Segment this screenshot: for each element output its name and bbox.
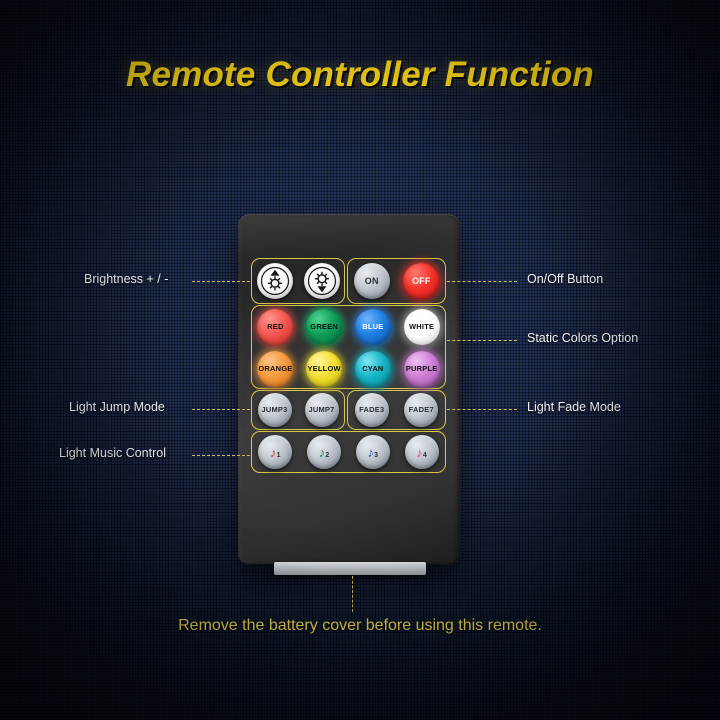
battery-caption: Remove the battery cover before using th… (0, 617, 720, 635)
leader-line-fade (447, 409, 517, 410)
music-note-1-icon: ♪1 (270, 446, 281, 459)
color-row-1: RED GREEN BLUE WHITE (251, 306, 446, 347)
music-note-2-number: 2 (325, 452, 329, 459)
music-note-4-icon: ♪4 (416, 446, 427, 459)
music-note-3-icon: ♪3 (367, 446, 378, 459)
music-note-1-glyph: ♪ (270, 445, 277, 460)
on-button[interactable]: ON (354, 263, 390, 299)
annotation-brightness: Brightness + / - (84, 272, 168, 286)
annotation-fade: Light Fade Mode (527, 400, 621, 414)
color-yellow-button[interactable]: YELLOW (306, 351, 342, 387)
sun-down-icon (307, 266, 337, 296)
off-button[interactable]: OFF (403, 263, 439, 299)
leader-line-jump (192, 409, 250, 410)
music-note-2-icon: ♪2 (319, 446, 330, 459)
fade7-button[interactable]: FADE7 (404, 393, 438, 427)
jump7-button[interactable]: JUMP7 (305, 393, 339, 427)
brightness-down-button[interactable] (304, 263, 340, 299)
on-button-label: ON (365, 277, 379, 286)
music-row: ♪1 ♪2 ♪3 ♪4 (251, 432, 446, 472)
color-white-button[interactable]: WHITE (404, 309, 440, 345)
jump7-label: JUMP7 (308, 406, 334, 414)
color-blue-label: BLUE (362, 323, 383, 331)
color-purple-label: PURPLE (406, 365, 438, 373)
jump3-button[interactable]: JUMP3 (258, 393, 292, 427)
sun-up-icon (260, 266, 290, 296)
color-white-label: WHITE (409, 323, 434, 331)
color-blue-button[interactable]: BLUE (355, 309, 391, 345)
music-3-button[interactable]: ♪3 (356, 435, 390, 469)
music-note-1-number: 1 (277, 452, 281, 459)
music-note-4-glyph: ♪ (416, 445, 423, 460)
poster-canvas: Remote Controller Function (0, 0, 720, 720)
brightness-up-button[interactable] (257, 263, 293, 299)
annotation-static-colors: Static Colors Option (527, 331, 638, 345)
color-purple-button[interactable]: PURPLE (404, 351, 440, 387)
color-red-label: RED (267, 323, 283, 331)
leader-line-static-colors (447, 340, 517, 341)
battery-cover (274, 562, 426, 575)
color-orange-button[interactable]: ORANGE (257, 351, 293, 387)
music-2-button[interactable]: ♪2 (307, 435, 341, 469)
fade3-button[interactable]: FADE3 (355, 393, 389, 427)
music-note-4-number: 4 (423, 452, 427, 459)
fade3-label: FADE3 (359, 406, 384, 414)
color-yellow-label: YELLOW (307, 365, 340, 373)
color-cyan-label: CYAN (362, 365, 383, 373)
music-1-button[interactable]: ♪1 (258, 435, 292, 469)
color-orange-label: ORANGE (258, 365, 292, 373)
leader-line-music (192, 455, 250, 456)
jump3-label: JUMP3 (261, 406, 287, 414)
leader-line-brightness (192, 281, 250, 282)
leader-line-onoff (447, 281, 517, 282)
color-red-button[interactable]: RED (257, 309, 293, 345)
color-cyan-button[interactable]: CYAN (355, 351, 391, 387)
fade7-label: FADE7 (409, 406, 434, 414)
music-note-3-number: 3 (374, 452, 378, 459)
jump-row: JUMP3 JUMP7 (251, 390, 345, 430)
annotation-onoff: On/Off Button (527, 272, 603, 286)
fade-row: FADE3 FADE7 (347, 390, 446, 430)
color-green-button[interactable]: GREEN (306, 309, 342, 345)
off-button-label: OFF (412, 277, 431, 286)
leader-line-battery-cover (352, 576, 353, 612)
color-green-label: GREEN (310, 323, 338, 331)
annotation-jump: Light Jump Mode (69, 400, 165, 414)
brightness-row (251, 258, 345, 304)
color-row-2: ORANGE YELLOW CYAN PURPLE (251, 348, 446, 389)
annotation-music: Light Music Control (59, 446, 166, 460)
power-row: ON OFF (347, 258, 446, 304)
music-4-button[interactable]: ♪4 (405, 435, 439, 469)
page-title: Remote Controller Function (0, 55, 720, 95)
